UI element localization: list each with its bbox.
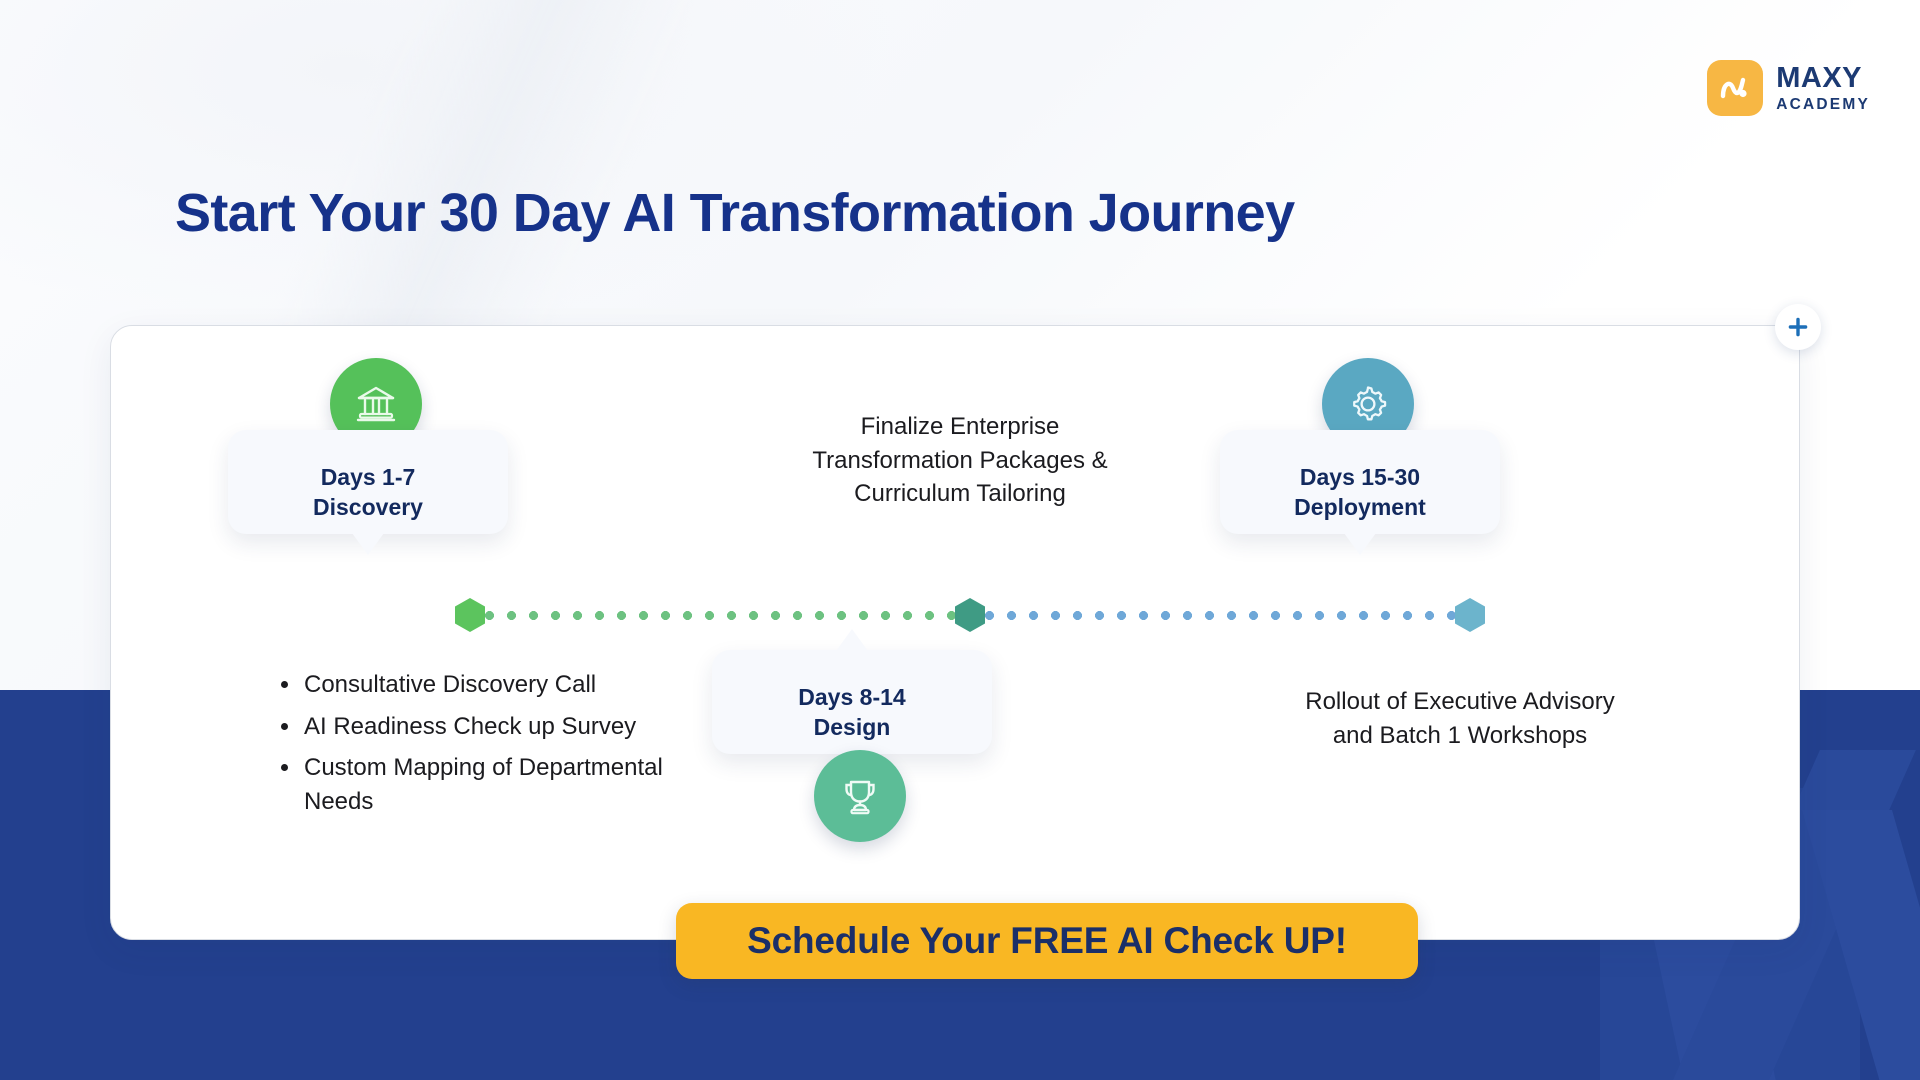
logo-wordmark: MAXY ACADEMY [1776,64,1870,113]
timeline-marker-mid [955,598,985,632]
milestone-card-deployment[interactable]: Days 15-30 Deployment [1220,430,1500,534]
deployment-description: Rollout of Executive Advisory and Batch … [1290,685,1630,752]
list-item: AI Readiness Check up Survey [272,710,702,744]
timeline-dots-left [485,611,957,620]
design-description: Finalize Enterprise Transformation Packa… [795,410,1125,511]
logo-title: MAXY [1776,64,1870,93]
brand-logo[interactable]: MAXY ACADEMY [1707,60,1870,116]
milestone-label-discovery: Days 1-7 Discovery [228,462,508,523]
timeline-marker-end [1455,598,1485,632]
plus-icon[interactable] [1775,304,1821,350]
timeline-marker-start [455,598,485,632]
milestone-card-discovery[interactable]: Days 1-7 Discovery [228,430,508,534]
list-item: Consultative Discovery Call [272,668,702,702]
discovery-bullet-list: Consultative Discovery Call AI Readiness… [272,668,702,818]
milestone-label-deployment: Days 15-30 Deployment [1220,462,1500,523]
list-item: Custom Mapping of Departmental Needs [272,751,702,818]
milestone-card-design[interactable]: Days 8-14 Design [712,650,992,754]
trophy-icon [814,750,906,842]
milestone-label-design: Days 8-14 Design [712,682,992,743]
schedule-checkup-button[interactable]: Schedule Your FREE AI Check UP! [676,903,1418,979]
page-title: Start Your 30 Day AI Transformation Jour… [175,182,1775,244]
discovery-description: Consultative Discovery Call AI Readiness… [272,668,702,826]
timeline-dots-right [985,611,1457,620]
timeline-connector [455,598,1485,632]
maxy-m-logo-icon [1707,60,1763,116]
logo-subtitle: ACADEMY [1776,97,1870,113]
